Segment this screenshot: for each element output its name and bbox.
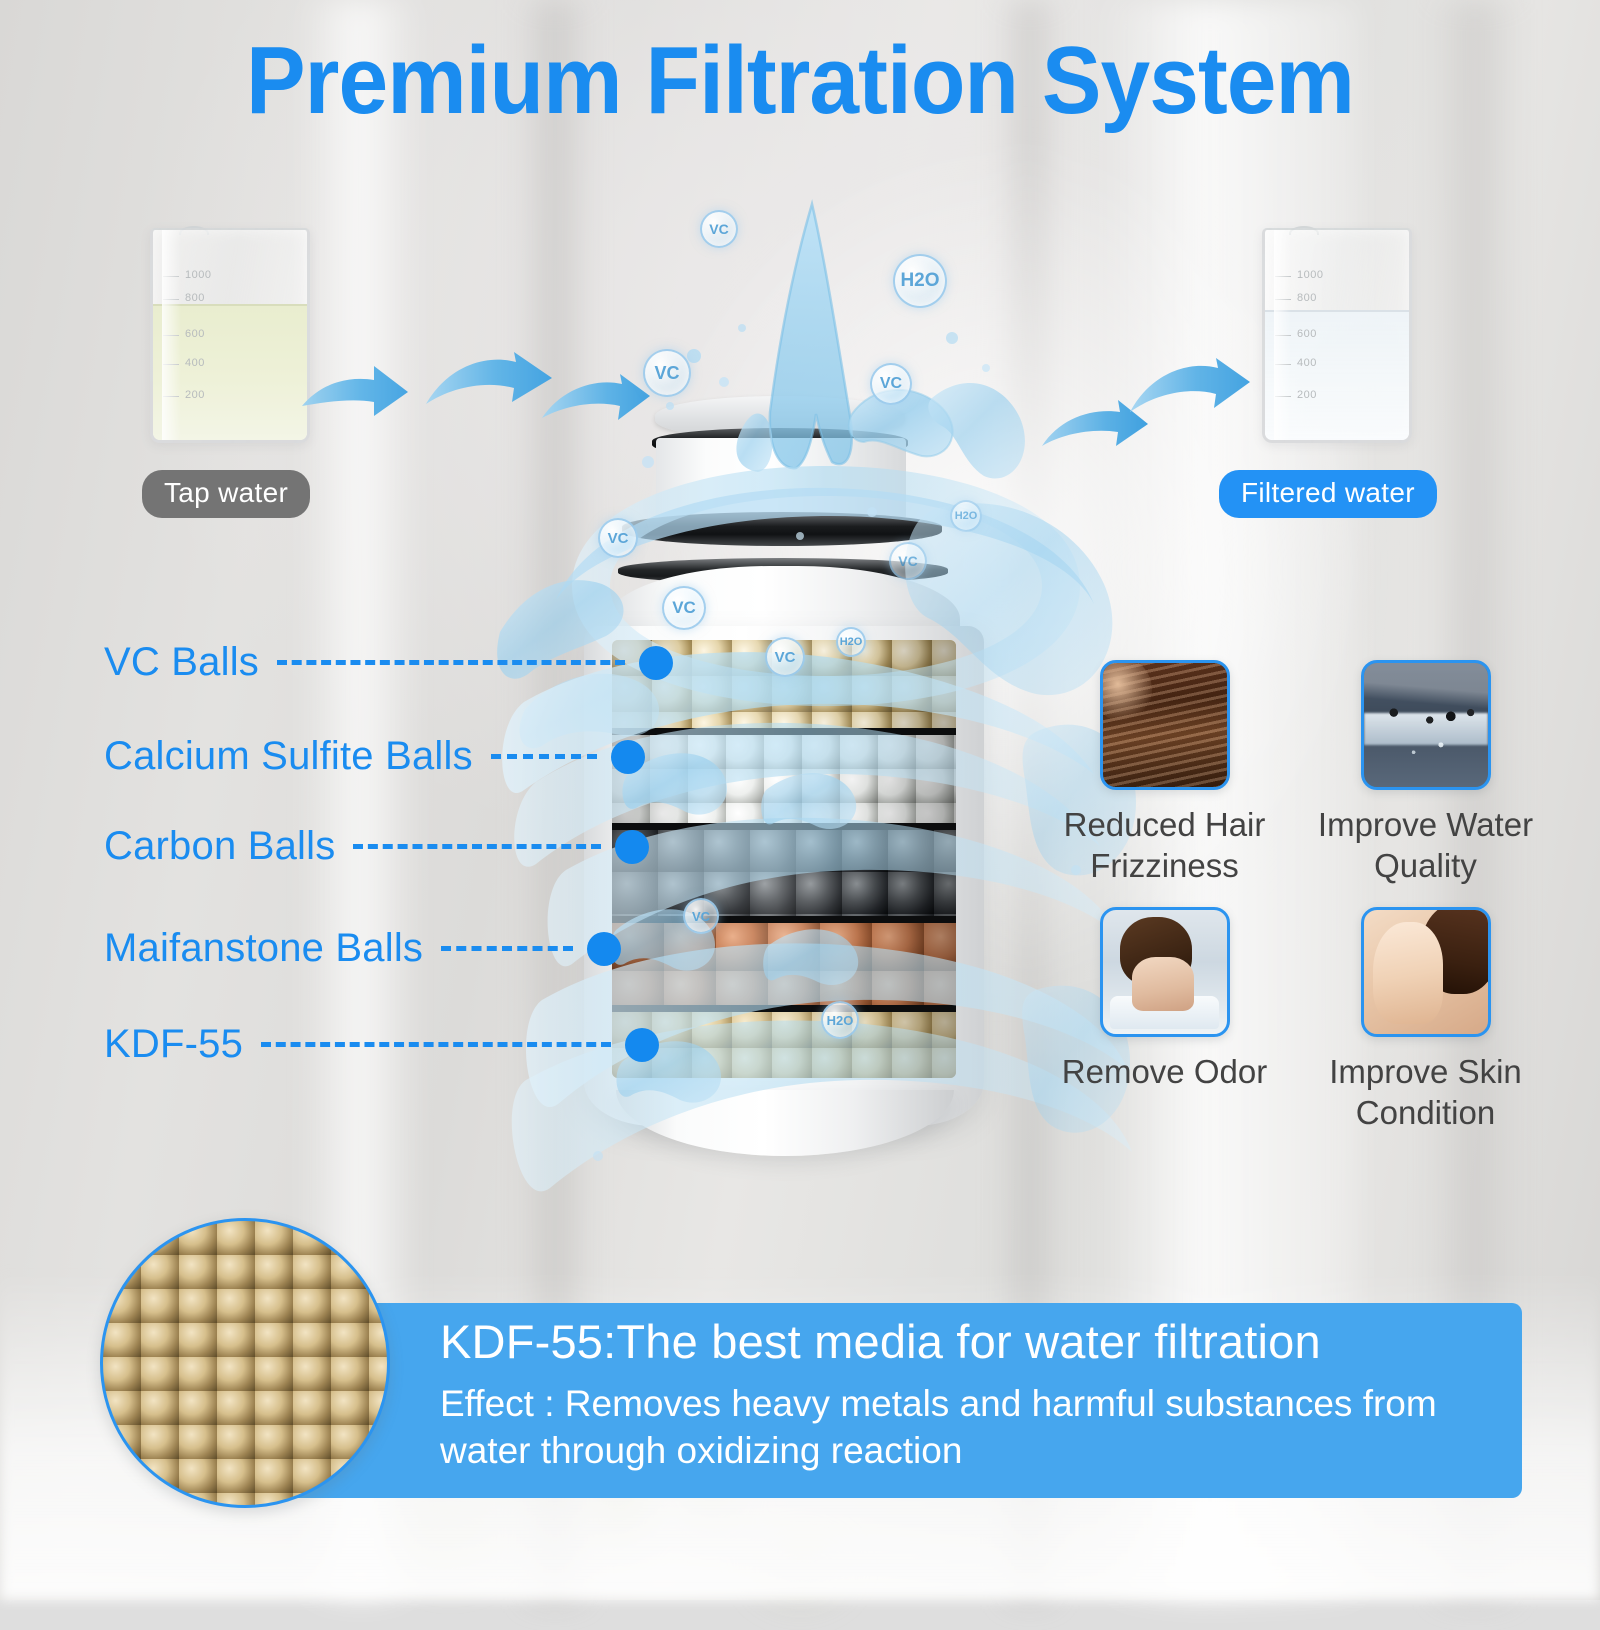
benefit-card-remove-odor[interactable]: Remove Odor: [1040, 907, 1289, 1134]
kdf-granules-photo-icon: [100, 1218, 390, 1508]
graduation-label: 600: [1297, 328, 1317, 340]
media-label-text: Maifanstone Balls: [104, 926, 423, 971]
graduation-label: 400: [1297, 357, 1317, 369]
leader-line: [491, 754, 597, 759]
h2o-bubble-icon: H2O: [836, 627, 866, 657]
media-label-text: Carbon Balls: [104, 824, 335, 869]
kdf-banner-title: KDF-55:The best media for water filtrati…: [440, 1317, 1494, 1368]
media-layer-carbon: [612, 830, 956, 916]
tap-water-beaker: 1000 800 600 400 200: [150, 228, 310, 443]
graduation-label: 800: [1297, 292, 1317, 304]
h2o-bubble-icon: H2O: [893, 254, 947, 308]
vc-bubble-icon: VC: [889, 542, 927, 580]
tap-water-badge: Tap water: [142, 470, 310, 518]
media-label-maifanstone-balls: Maifanstone Balls: [104, 926, 621, 971]
water-arrow-right-icon: [300, 362, 410, 432]
layer-marker-dot: [639, 646, 673, 680]
media-label-text: KDF-55: [104, 1022, 243, 1067]
benefit-caption: Remove Odor: [1062, 1051, 1267, 1092]
leader-line: [441, 946, 573, 951]
media-label-text: Calcium Sulfite Balls: [104, 734, 473, 779]
vc-bubble-icon: VC: [870, 363, 912, 405]
leader-line: [277, 660, 625, 665]
layer-marker-dot: [611, 740, 645, 774]
benefit-card-reduced-hair-frizziness[interactable]: Reduced Hair Frizziness: [1040, 660, 1289, 887]
layer-marker-dot: [615, 830, 649, 864]
vc-bubble-icon: VC: [598, 518, 638, 558]
vc-bubble-icon: VC: [700, 210, 738, 248]
graduation-label: 400: [185, 357, 205, 369]
graduation-label: 800: [185, 292, 205, 304]
leader-line: [353, 844, 601, 849]
media-label-text: VC Balls: [104, 640, 259, 685]
media-label-kdf55: KDF-55: [104, 1022, 659, 1067]
benefit-card-improve-skin-condition[interactable]: Improve Skin Condition: [1301, 907, 1550, 1134]
filtered-water-beaker: 1000 800 600 400 200: [1262, 228, 1412, 443]
h2o-bubble-icon: H2O: [950, 500, 982, 532]
h2o-bubble-icon: H2O: [821, 1001, 859, 1039]
media-layer-divider: [612, 916, 956, 923]
media-layer-maifanstone: [612, 923, 956, 1005]
benefit-card-improve-water-quality[interactable]: Improve Water Quality: [1301, 660, 1550, 887]
graduation-label: 200: [185, 389, 205, 401]
media-label-calcium-sulfite: Calcium Sulfite Balls: [104, 734, 645, 779]
hair-photo-icon: [1100, 660, 1230, 790]
media-layer-kdf55: [612, 1012, 956, 1078]
filtered-water-badge: Filtered water: [1219, 470, 1437, 518]
layer-marker-dot: [625, 1028, 659, 1062]
layer-marker-dot: [587, 932, 621, 966]
benefit-caption: Improve Skin Condition: [1301, 1051, 1550, 1134]
vc-bubble-icon: VC: [765, 637, 805, 677]
graduation-label: 1000: [185, 269, 211, 281]
page-title: Premium Filtration System: [56, 26, 1544, 136]
media-layer-divider: [612, 823, 956, 830]
water-arrow-right-icon: [540, 372, 650, 442]
water-arrow-right-icon: [1128, 358, 1252, 434]
kdf-banner: KDF-55:The best media for water filtrati…: [200, 1303, 1522, 1498]
benefit-caption: Reduced Hair Frizziness: [1040, 804, 1289, 887]
kdf-banner-text: KDF-55:The best media for water filtrati…: [440, 1317, 1494, 1474]
water-impurities-photo-icon: [1361, 660, 1491, 790]
vc-bubble-icon: VC: [662, 586, 706, 630]
media-window: [612, 640, 956, 1078]
graduation-label: 600: [185, 328, 205, 340]
media-label-carbon-balls: Carbon Balls: [104, 824, 649, 869]
benefits-grid: Reduced Hair Frizziness Improve Water Qu…: [1040, 660, 1550, 1133]
water-arrow-right-icon: [424, 352, 554, 428]
skin-neck-photo-icon: [1361, 907, 1491, 1037]
leader-line: [261, 1042, 611, 1047]
graduation-label: 200: [1297, 389, 1317, 401]
beaker-liquid: [153, 304, 307, 441]
vc-bubble-icon: VC: [683, 898, 719, 934]
graduation-label: 1000: [1297, 269, 1323, 281]
cartridge-neck: [656, 438, 906, 520]
beaker-glass: 1000 800 600 400 200: [150, 228, 310, 443]
media-layer-calcium-sulfite: [612, 735, 956, 823]
cartridge-ring: [622, 512, 942, 546]
vc-bubble-icon: VC: [643, 349, 691, 397]
benefit-caption: Improve Water Quality: [1301, 804, 1550, 887]
kdf-banner-subtitle: Effect : Removes heavy metals and harmfu…: [440, 1380, 1494, 1475]
media-layer-divider: [612, 1005, 956, 1012]
cartridge-base: [616, 1090, 954, 1156]
beaker-liquid: [1265, 310, 1409, 440]
media-layer-divider: [612, 728, 956, 735]
washing-face-photo-icon: [1100, 907, 1230, 1037]
media-label-vc-balls: VC Balls: [104, 640, 673, 685]
beaker-glass: 1000 800 600 400 200: [1262, 228, 1412, 443]
